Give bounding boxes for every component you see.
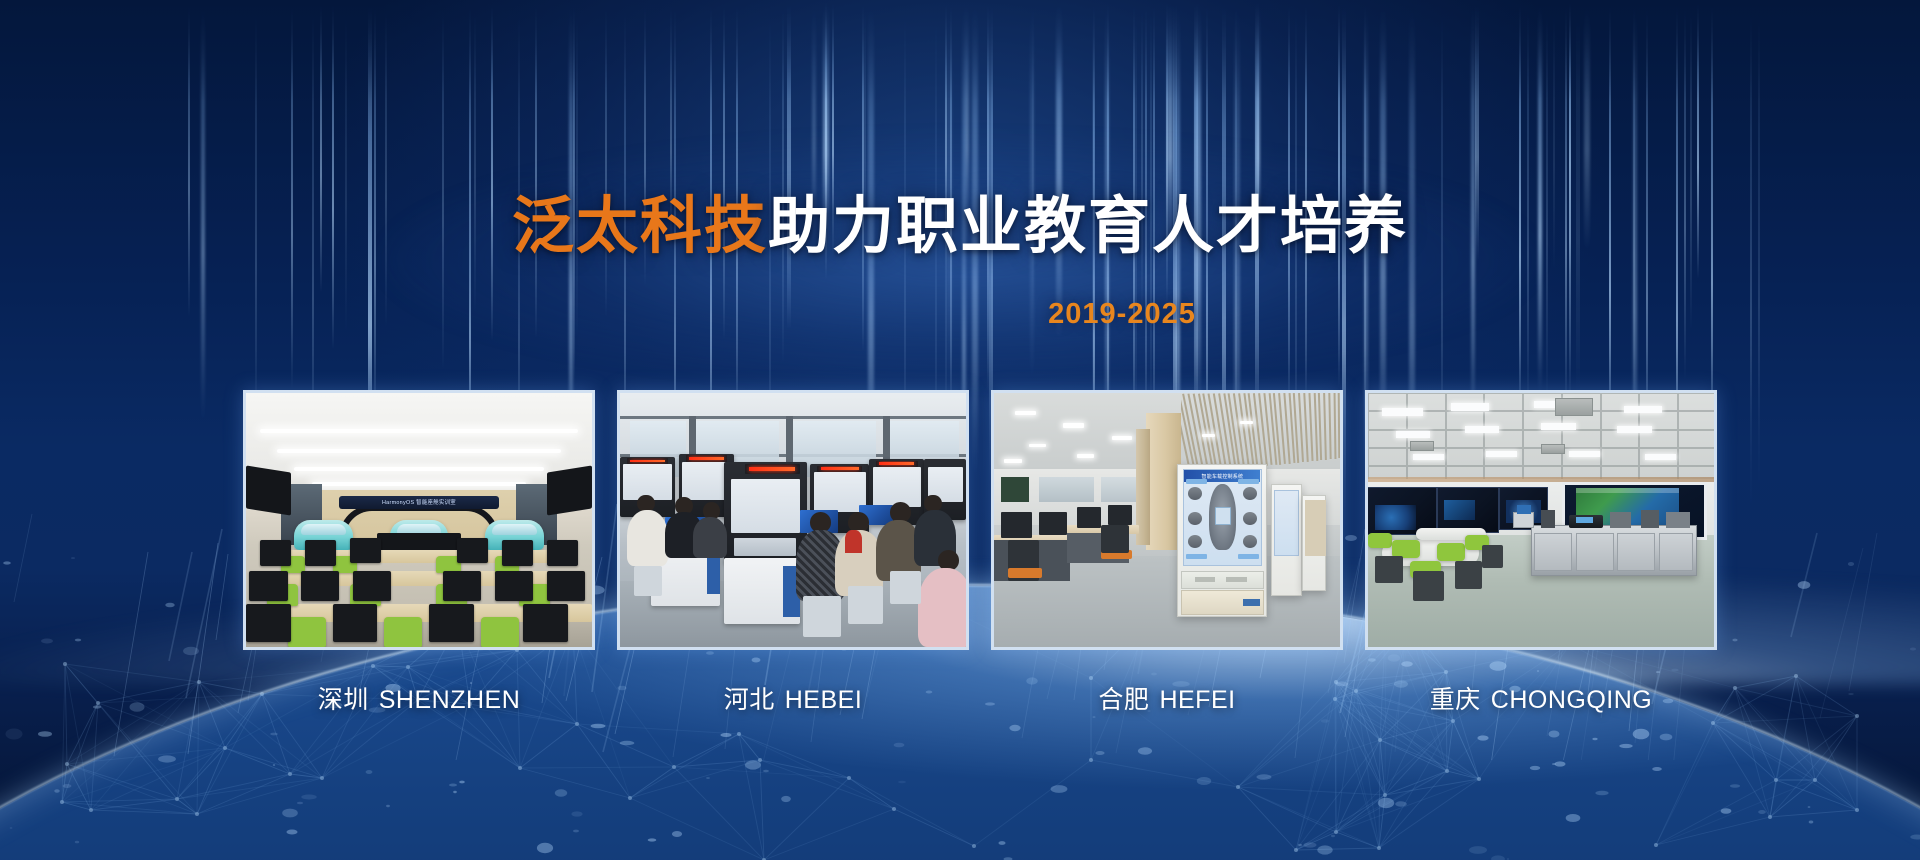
title-rest: 助力职业教育人才培养 (768, 192, 1408, 261)
caption-shenzhen-en: SHENZHEN (379, 686, 521, 714)
caption-shenzhen: 深圳SHENZHEN (243, 680, 595, 716)
gallery-photo-row: HarmonyOS 智能座舱实训室 (243, 390, 1717, 650)
photo-shenzhen-classroom: HarmonyOS 智能座舱实训室 (246, 393, 592, 647)
photo-signage-shenzhen: HarmonyOS 智能座舱实训室 (339, 496, 498, 509)
caption-hebei-cn: 河北 (724, 686, 775, 714)
caption-hefei-en: HEFEI (1159, 686, 1235, 714)
photo-chongqing-smart-lab (1368, 393, 1714, 647)
caption-chongqing: 重庆CHONGQING (1365, 680, 1717, 716)
title-brand: 泛太科技 (512, 192, 768, 261)
photo-hebei-training-lab (620, 393, 966, 647)
photo-hefei-auto-lab: 智能车载控制系统 (994, 393, 1340, 647)
gallery-photo-frame-chongqing[interactable] (1365, 390, 1717, 650)
year-range-label: 2019-2025 (0, 298, 1920, 331)
gallery-photo-frame-hebei[interactable] (617, 390, 969, 650)
caption-chongqing-cn: 重庆 (1430, 686, 1481, 714)
caption-chongqing-en: CHONGQING (1491, 686, 1652, 714)
caption-hebei: 河北HEBEI (617, 680, 969, 716)
gallery-caption-row: 深圳SHENZHEN 河北HEBEI 合肥HEFEI 重庆CHONGQING (243, 680, 1717, 716)
caption-shenzhen-cn: 深圳 (318, 686, 369, 714)
caption-hefei: 合肥HEFEI (991, 680, 1343, 716)
gallery-photo-frame-shenzhen[interactable]: HarmonyOS 智能座舱实训室 (243, 390, 595, 650)
page-title: 泛太科技助力职业教育人才培养 (0, 196, 1920, 258)
promo-banner: 泛太科技助力职业教育人才培养 2019-2025 Har (0, 0, 1920, 860)
gallery-photo-frame-hefei[interactable]: 智能车载控制系统 (991, 390, 1343, 650)
caption-hebei-en: HEBEI (785, 686, 863, 714)
caption-hefei-cn: 合肥 (1098, 686, 1149, 714)
